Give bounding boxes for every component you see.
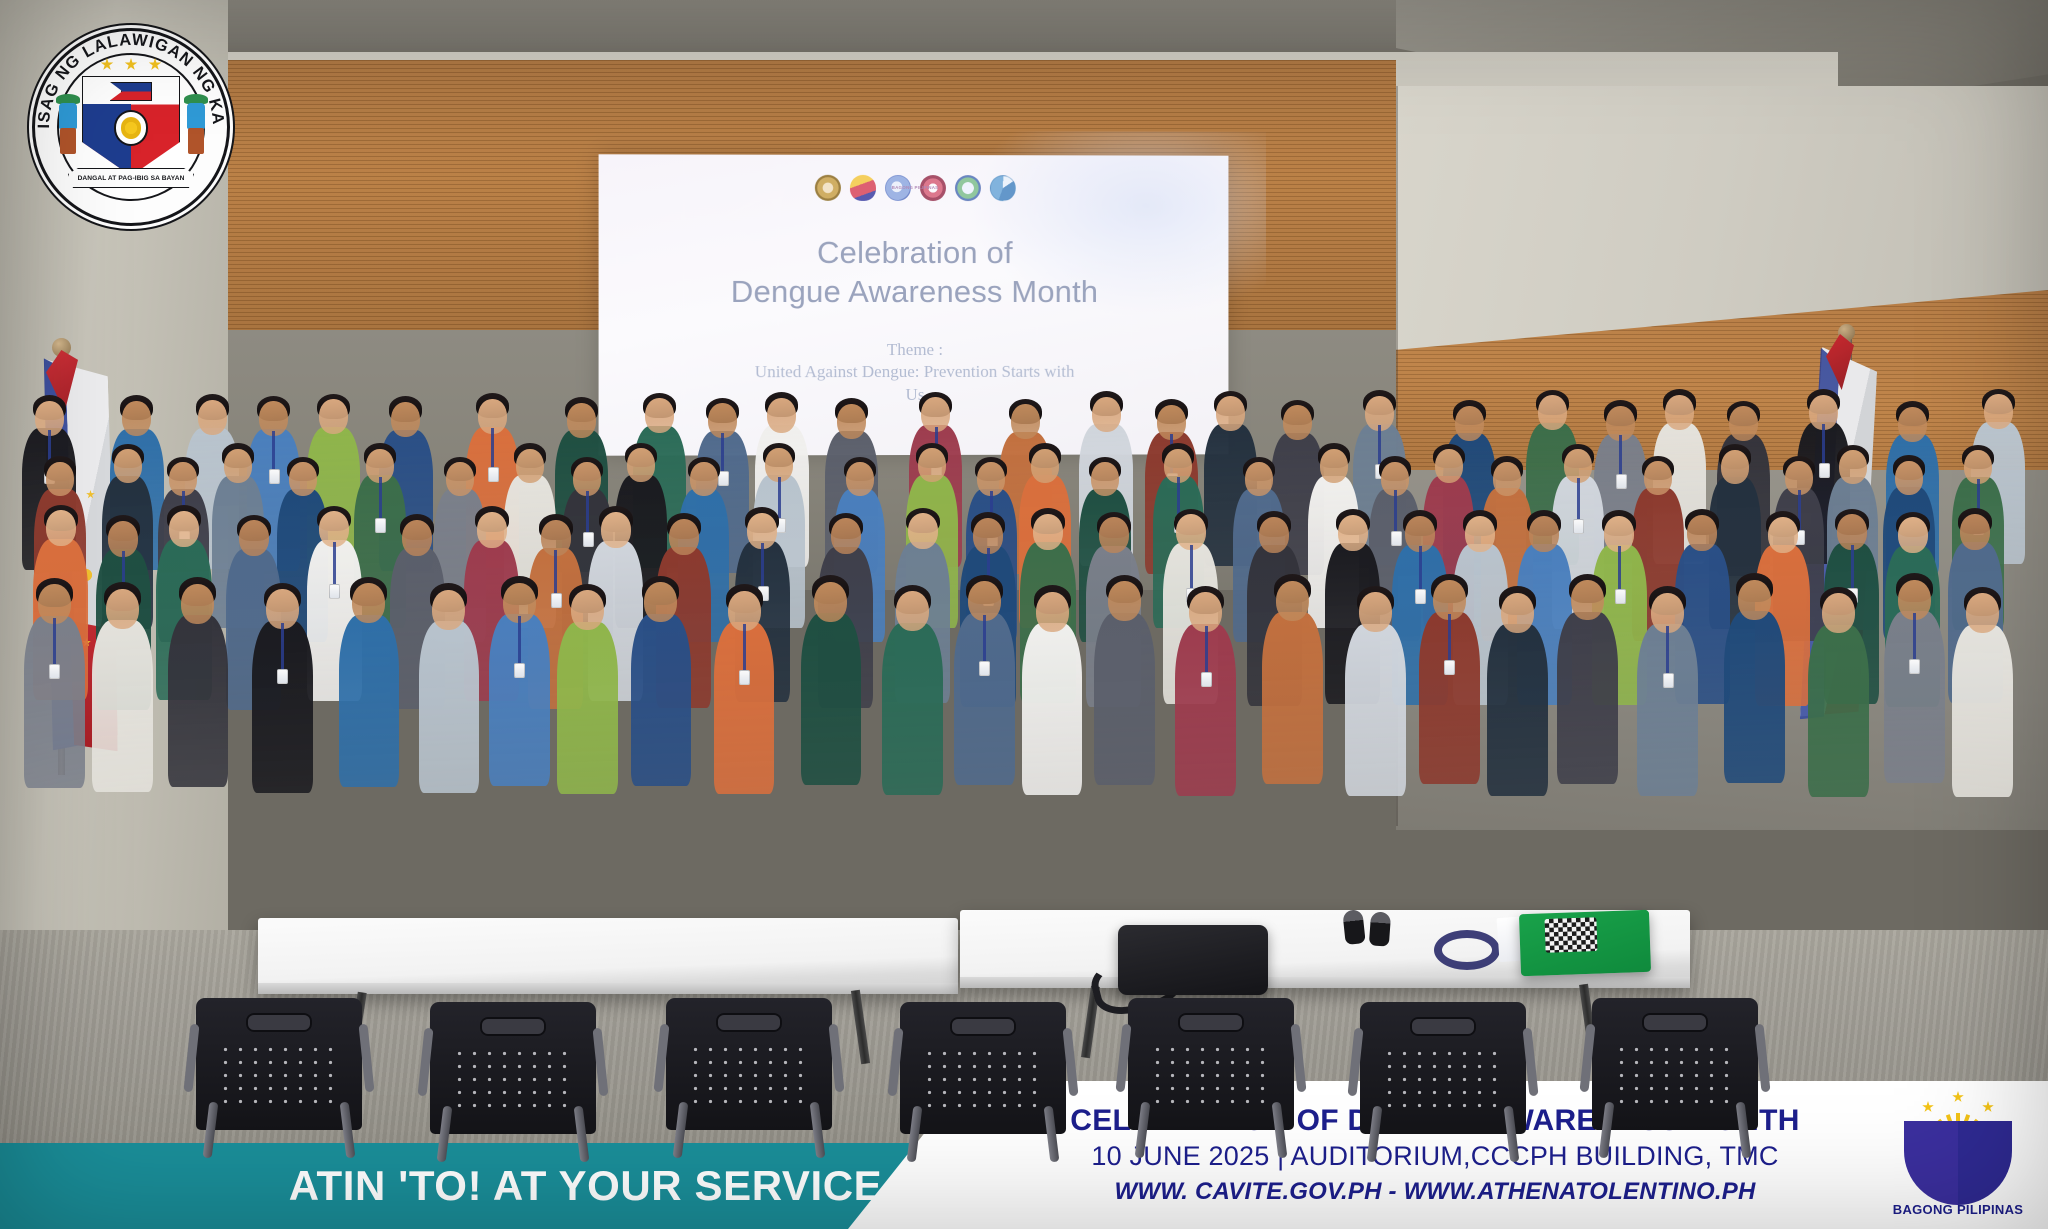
person-head	[114, 449, 142, 483]
folder-notepad	[1544, 917, 1597, 953]
person-head	[46, 510, 76, 546]
person	[1949, 587, 2015, 797]
person-head	[1216, 396, 1245, 431]
seal-motto-text: DANGAL AT PAG-IBIG SA BAYAN	[78, 175, 185, 182]
id-badge	[1663, 673, 1674, 688]
lanyard	[1666, 626, 1669, 672]
person-head	[106, 589, 139, 629]
person-torso	[419, 621, 480, 793]
person-head	[1895, 461, 1923, 495]
person-head	[477, 512, 507, 548]
person-head	[198, 400, 227, 435]
lanyard	[518, 616, 521, 662]
stacking-chair	[900, 1002, 1066, 1134]
lanyard	[1448, 614, 1451, 660]
id-badge	[49, 664, 60, 679]
shield-sun-emblem	[114, 110, 149, 145]
lanyard	[1851, 545, 1854, 588]
farmer-legs	[188, 128, 204, 154]
star-icon	[1922, 1101, 1934, 1113]
person-head	[1768, 517, 1798, 553]
person	[165, 577, 231, 787]
person-head	[1984, 394, 2013, 429]
person	[336, 577, 402, 787]
person	[1721, 573, 1787, 783]
person-head	[319, 399, 348, 434]
person-head	[1960, 514, 1990, 550]
stacking-chair	[1360, 1002, 1526, 1134]
id-badge	[1909, 659, 1920, 674]
chair-handle	[1178, 1013, 1244, 1033]
person-head	[1529, 516, 1559, 552]
person-head	[1099, 517, 1129, 553]
person	[1635, 586, 1701, 796]
person-head	[1738, 580, 1771, 620]
person-head	[516, 449, 544, 483]
stacking-chair	[196, 998, 362, 1130]
person-torso	[631, 614, 692, 786]
lanyard	[1205, 626, 1208, 672]
seal-farmer-right	[182, 94, 210, 156]
person-head	[1031, 449, 1059, 483]
person	[90, 582, 156, 792]
person	[880, 585, 946, 795]
person-head	[571, 590, 604, 630]
lanyard	[1434, 930, 1500, 970]
id-badge	[1573, 519, 1584, 534]
id-badge	[1201, 672, 1212, 687]
slide-theme-label: Theme :	[649, 339, 1178, 362]
person-head	[1501, 593, 1534, 633]
person	[628, 576, 694, 786]
person	[1091, 575, 1157, 785]
chair-perforations	[452, 1047, 575, 1108]
person-head	[567, 403, 596, 438]
id-badge	[277, 669, 288, 684]
lanyard	[983, 615, 986, 661]
person-head	[1721, 450, 1749, 484]
person-torso	[168, 615, 229, 787]
id-badge	[1616, 474, 1627, 489]
person-head	[289, 462, 317, 496]
slide-title-line1: Celebration of	[599, 233, 1229, 273]
person-torso	[339, 615, 400, 787]
person-torso	[1094, 613, 1155, 785]
person	[1484, 586, 1550, 796]
stacking-chair	[1592, 998, 1758, 1130]
person	[952, 575, 1018, 785]
id-badge	[979, 661, 990, 676]
chair-handle	[246, 1013, 312, 1033]
bagong-pilipinas-caption: BAGONG PILIPINAS	[1878, 1202, 2038, 1217]
person-head	[1011, 404, 1040, 439]
person	[1881, 573, 1947, 783]
lanyard	[761, 543, 764, 586]
chair-handle	[1410, 1017, 1476, 1037]
person-head	[1359, 592, 1392, 632]
person-head	[1455, 406, 1484, 441]
person-head	[918, 448, 946, 482]
star-icon	[101, 58, 114, 71]
wireless-microphones	[1344, 910, 1406, 946]
microphone-icon	[1342, 909, 1365, 945]
lanyard	[743, 624, 746, 670]
chair-handle	[480, 1017, 546, 1037]
person-head	[1644, 461, 1672, 495]
person-head	[1465, 516, 1495, 552]
star-icon	[1982, 1101, 1994, 1113]
person-head	[1687, 515, 1717, 551]
person-head	[690, 462, 718, 496]
farmer-torso	[59, 103, 77, 129]
person-head	[446, 462, 474, 496]
person-head	[1493, 462, 1521, 496]
person	[249, 583, 315, 793]
person-head	[402, 520, 432, 556]
person-head	[391, 402, 420, 437]
person	[487, 576, 553, 786]
lanyard	[1913, 613, 1916, 659]
person-head	[837, 404, 866, 439]
service-slogan-text: ATIN 'TO! AT YOUR SERVICE	[289, 1162, 883, 1210]
person-head	[1898, 407, 1927, 442]
person-head	[1283, 405, 1312, 440]
provincial-seal-cavite: SAGISAG NG LALAWIGAN NG KABITE	[32, 28, 230, 226]
person-head	[1729, 406, 1758, 441]
star-icon	[125, 58, 138, 71]
person-head	[181, 584, 214, 624]
person-head	[1320, 449, 1348, 483]
person-head	[1108, 581, 1141, 621]
person-head	[1276, 581, 1309, 621]
person-head	[1033, 514, 1063, 550]
farmer-legs	[60, 128, 76, 154]
star-icon	[1952, 1091, 1964, 1103]
lanyard	[1190, 545, 1193, 588]
id-badge	[375, 518, 386, 533]
lanyard	[491, 428, 494, 467]
person-head	[1036, 592, 1069, 632]
bagong-pilipinas-emblem	[1904, 1121, 2012, 1205]
stacking-chair	[430, 1002, 596, 1134]
lanyard	[1619, 435, 1622, 474]
seal-motto-scroll: DANGAL AT PAG-IBIG SA BAYAN	[68, 168, 194, 188]
id-badge	[1444, 660, 1455, 675]
person-torso	[1952, 625, 2013, 797]
person-head	[352, 583, 385, 623]
person-head	[1822, 593, 1855, 633]
person-torso	[1724, 611, 1785, 783]
person-head	[239, 520, 269, 556]
person	[1417, 574, 1483, 784]
lanyard	[1577, 478, 1580, 519]
microphone-icon	[1369, 911, 1391, 946]
id-badge	[739, 670, 750, 685]
person-head	[1245, 462, 1273, 496]
slide-title: Celebration of Dengue Awareness Month	[599, 233, 1229, 311]
group-photo-crowd	[0, 395, 2048, 955]
bagong-pilipinas-logo: BAGONG PILIPINAS	[1878, 1087, 2038, 1223]
stacking-chair	[1128, 998, 1294, 1130]
chair-handle	[716, 1013, 782, 1033]
person-torso	[1808, 625, 1869, 797]
folding-table-left	[258, 918, 958, 994]
person-head	[669, 519, 699, 555]
person-torso	[882, 623, 943, 795]
person-torso	[1345, 624, 1406, 796]
id-badge	[488, 467, 499, 482]
person-torso	[1487, 624, 1548, 796]
person-head	[122, 401, 151, 436]
event-websites: WWW. CAVITE.GOV.PH - WWW.ATHENATOLENTINO…	[992, 1178, 1878, 1206]
person-torso	[801, 613, 862, 785]
lanyard	[379, 477, 382, 518]
person-head	[1966, 593, 1999, 633]
person	[1260, 574, 1326, 784]
person-head	[831, 518, 861, 554]
person-torso	[1262, 612, 1323, 784]
person-torso	[1022, 623, 1083, 795]
person-head	[169, 511, 199, 547]
chair-perforations	[1150, 1043, 1273, 1104]
slide-logo-caption: BAGONG PILIPINAS	[599, 184, 1229, 190]
chair-perforations	[688, 1043, 811, 1104]
lanyard	[281, 623, 284, 669]
person-head	[224, 449, 252, 483]
person-head	[645, 398, 674, 433]
chair-perforations	[218, 1043, 341, 1104]
person-head	[1338, 515, 1368, 551]
person-head	[1839, 450, 1867, 484]
person-head	[46, 462, 74, 496]
person-head	[1092, 397, 1121, 432]
person-head	[1898, 517, 1928, 553]
person-head	[432, 590, 465, 630]
farmer-torso	[187, 103, 205, 129]
person	[21, 578, 87, 788]
person-head	[601, 512, 631, 548]
chair-handle	[1642, 1013, 1708, 1033]
screenshot-root: BAGONG PILIPINAS Celebration of Dengue A…	[0, 0, 2048, 1229]
person-head	[1571, 580, 1604, 620]
person	[798, 575, 864, 785]
person	[1173, 586, 1239, 796]
sun-icon	[121, 117, 142, 138]
person-head	[814, 582, 847, 622]
id-badge	[514, 663, 525, 678]
person-head	[767, 398, 796, 433]
person-head	[1259, 517, 1289, 553]
person-torso	[1557, 612, 1618, 784]
chair-perforations	[922, 1047, 1045, 1108]
person-head	[896, 591, 929, 631]
person-head	[846, 462, 874, 496]
person-head	[1091, 462, 1119, 496]
chair-handle	[950, 1017, 1016, 1037]
person-head	[627, 448, 655, 482]
person-head	[908, 513, 938, 549]
star-icon	[149, 58, 162, 71]
slide-title-line2: Dengue Awareness Month	[599, 272, 1229, 311]
person-torso	[557, 622, 618, 794]
chair-perforations	[1614, 1043, 1737, 1104]
person-head	[1435, 449, 1463, 483]
chair-perforations	[1382, 1047, 1505, 1108]
person	[554, 584, 620, 794]
seal-stars	[32, 58, 230, 71]
seal-farmer-left	[54, 94, 82, 156]
lanyard	[53, 618, 56, 664]
person-head	[1538, 395, 1567, 430]
person	[1019, 585, 1085, 795]
person	[1343, 586, 1409, 796]
person-head	[644, 582, 677, 622]
person-torso	[92, 620, 153, 792]
stacking-chair	[666, 998, 832, 1130]
person	[416, 583, 482, 793]
black-shoulder-bag	[1118, 925, 1268, 995]
person	[711, 584, 777, 794]
slide-theme-line1: United Against Dengue: Prevention Starts…	[649, 361, 1178, 384]
person-head	[1665, 395, 1694, 430]
person	[1555, 574, 1621, 784]
person	[1806, 587, 1872, 797]
